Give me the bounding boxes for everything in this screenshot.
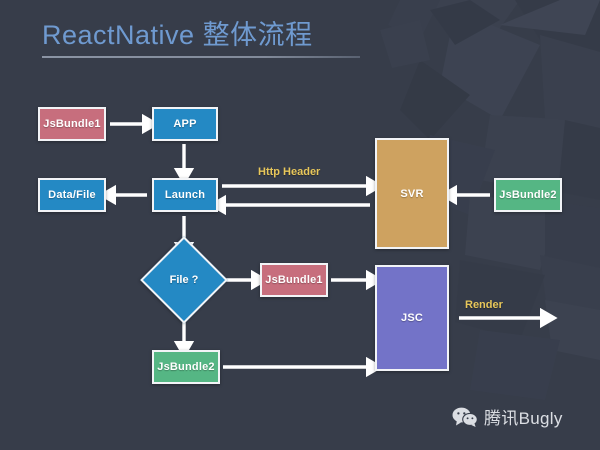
node-label: JsBundle1 [265, 274, 322, 286]
node-svr[interactable]: SVR [375, 138, 449, 249]
edge-label-http-header: Http Header [258, 166, 320, 178]
watermark-text: 腾讯Bugly [484, 404, 563, 429]
node-label: Launch [165, 189, 205, 201]
node-data-file[interactable]: Data/File [38, 178, 106, 212]
node-file-decision[interactable]: File ? [153, 249, 215, 311]
node-label: JsBundle1 [43, 118, 100, 130]
node-jsbundle1-mid[interactable]: JsBundle1 [260, 263, 328, 297]
node-app[interactable]: APP [152, 107, 218, 141]
node-label: JsBundle2 [499, 189, 556, 201]
node-label: JsBundle2 [157, 361, 214, 373]
node-jsbundle2-bottom[interactable]: JsBundle2 [152, 350, 220, 384]
node-label: APP [173, 118, 196, 130]
edge-label-render: Render [465, 299, 503, 311]
arrow-layer [0, 0, 600, 450]
node-label: Data/File [48, 189, 96, 201]
watermark: 腾讯Bugly [452, 404, 563, 429]
node-label: File ? [153, 249, 215, 311]
node-jsbundle1-left[interactable]: JsBundle1 [38, 107, 106, 141]
node-launch[interactable]: Launch [152, 178, 218, 212]
node-jsc[interactable]: JSC [375, 265, 449, 371]
node-label: JSC [401, 312, 423, 324]
wechat-icon [452, 407, 478, 427]
slide-canvas: ReactNative 整体流程 [0, 0, 600, 450]
node-label: SVR [400, 188, 423, 200]
node-jsbundle2-right[interactable]: JsBundle2 [494, 178, 562, 212]
